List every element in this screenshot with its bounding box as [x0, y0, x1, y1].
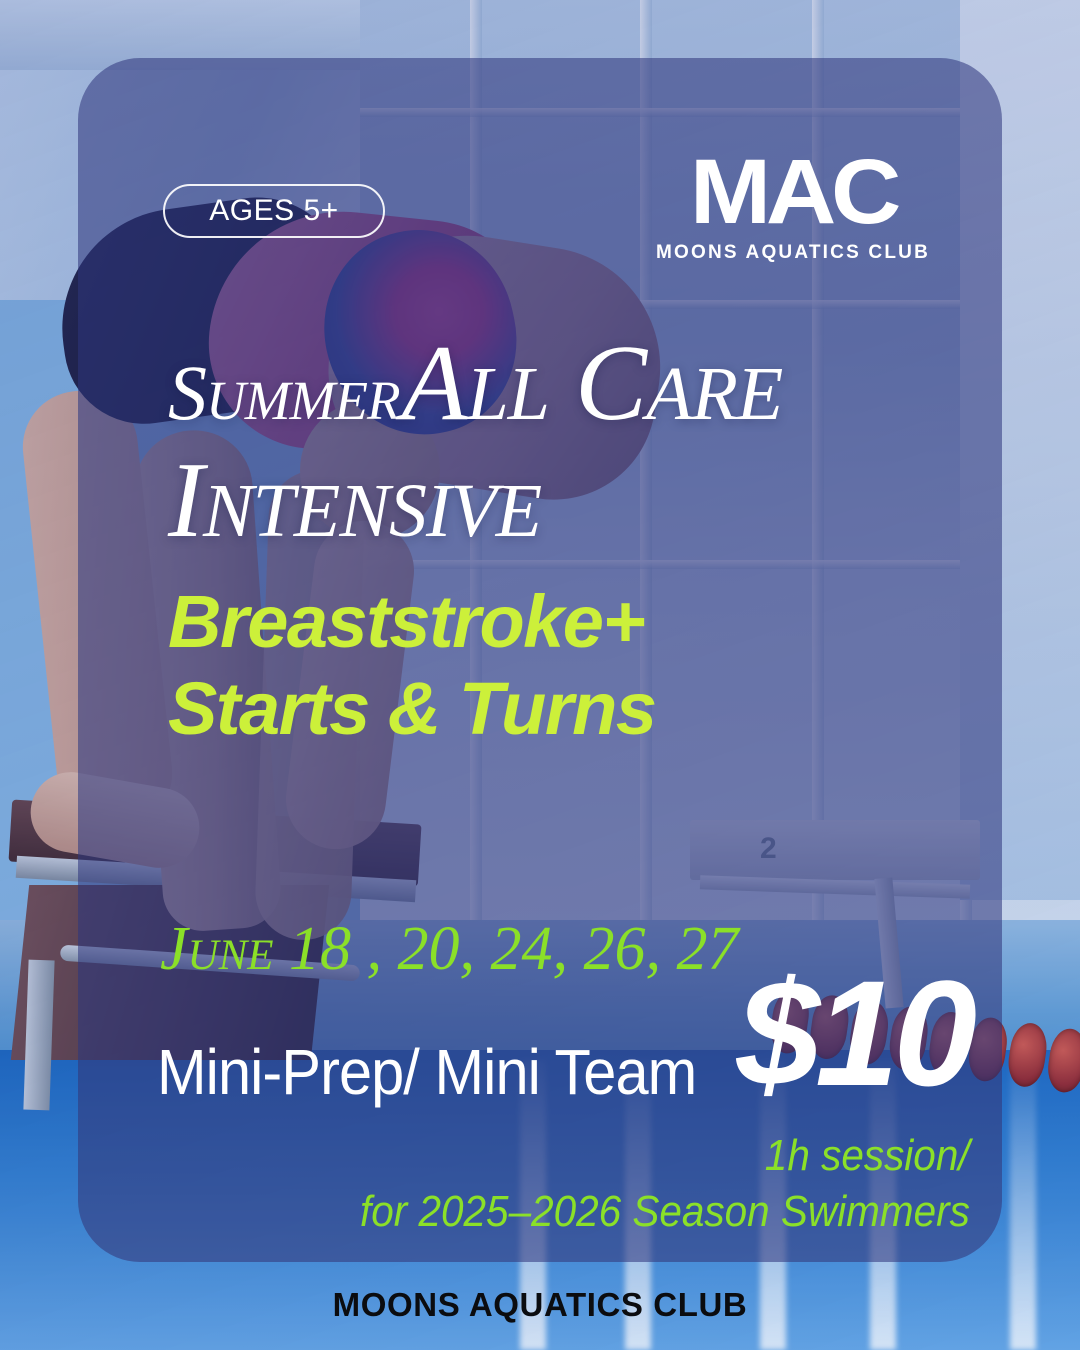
stroke-line-2: Starts & Turns	[168, 665, 656, 752]
headline: Summer All Care Intensive	[168, 330, 968, 557]
ages-badge-label: AGES 5+	[209, 196, 338, 226]
headline-summer: Summer	[168, 354, 400, 432]
poster-canvas: 2 AGES 5+ MAC MOONS AQUATICS CLUB	[0, 0, 1080, 1350]
ages-badge: AGES 5+	[163, 184, 385, 238]
price-session-line-2: for 2025–2026 Season Swimmers	[360, 1190, 970, 1234]
mac-logo-wordmark: MAC	[648, 150, 938, 235]
headline-all-care: All Care	[402, 330, 783, 438]
headline-intensive: Intensive	[168, 444, 968, 557]
price-amount: $10	[737, 958, 972, 1108]
price-session-line-1: 1h session/	[765, 1134, 970, 1178]
headline-line-1: Summer All Care	[168, 330, 968, 438]
mac-logo: MAC MOONS AQUATICS CLUB	[656, 150, 930, 262]
group-label: Mini-Prep/ Mini Team	[157, 1040, 696, 1104]
session-dates: June 18 , 20, 24, 26, 27	[160, 918, 739, 980]
content-layer: AGES 5+ MAC MOONS AQUATICS CLUB Summer A…	[0, 0, 1080, 1350]
mac-logo-subtitle: MOONS AQUATICS CLUB	[656, 243, 930, 262]
stroke-line-1: Breaststroke+	[168, 578, 656, 665]
stroke-focus: Breaststroke+ Starts & Turns	[168, 578, 656, 753]
footer-club-name: MOONS AQUATICS CLUB	[0, 1288, 1080, 1321]
